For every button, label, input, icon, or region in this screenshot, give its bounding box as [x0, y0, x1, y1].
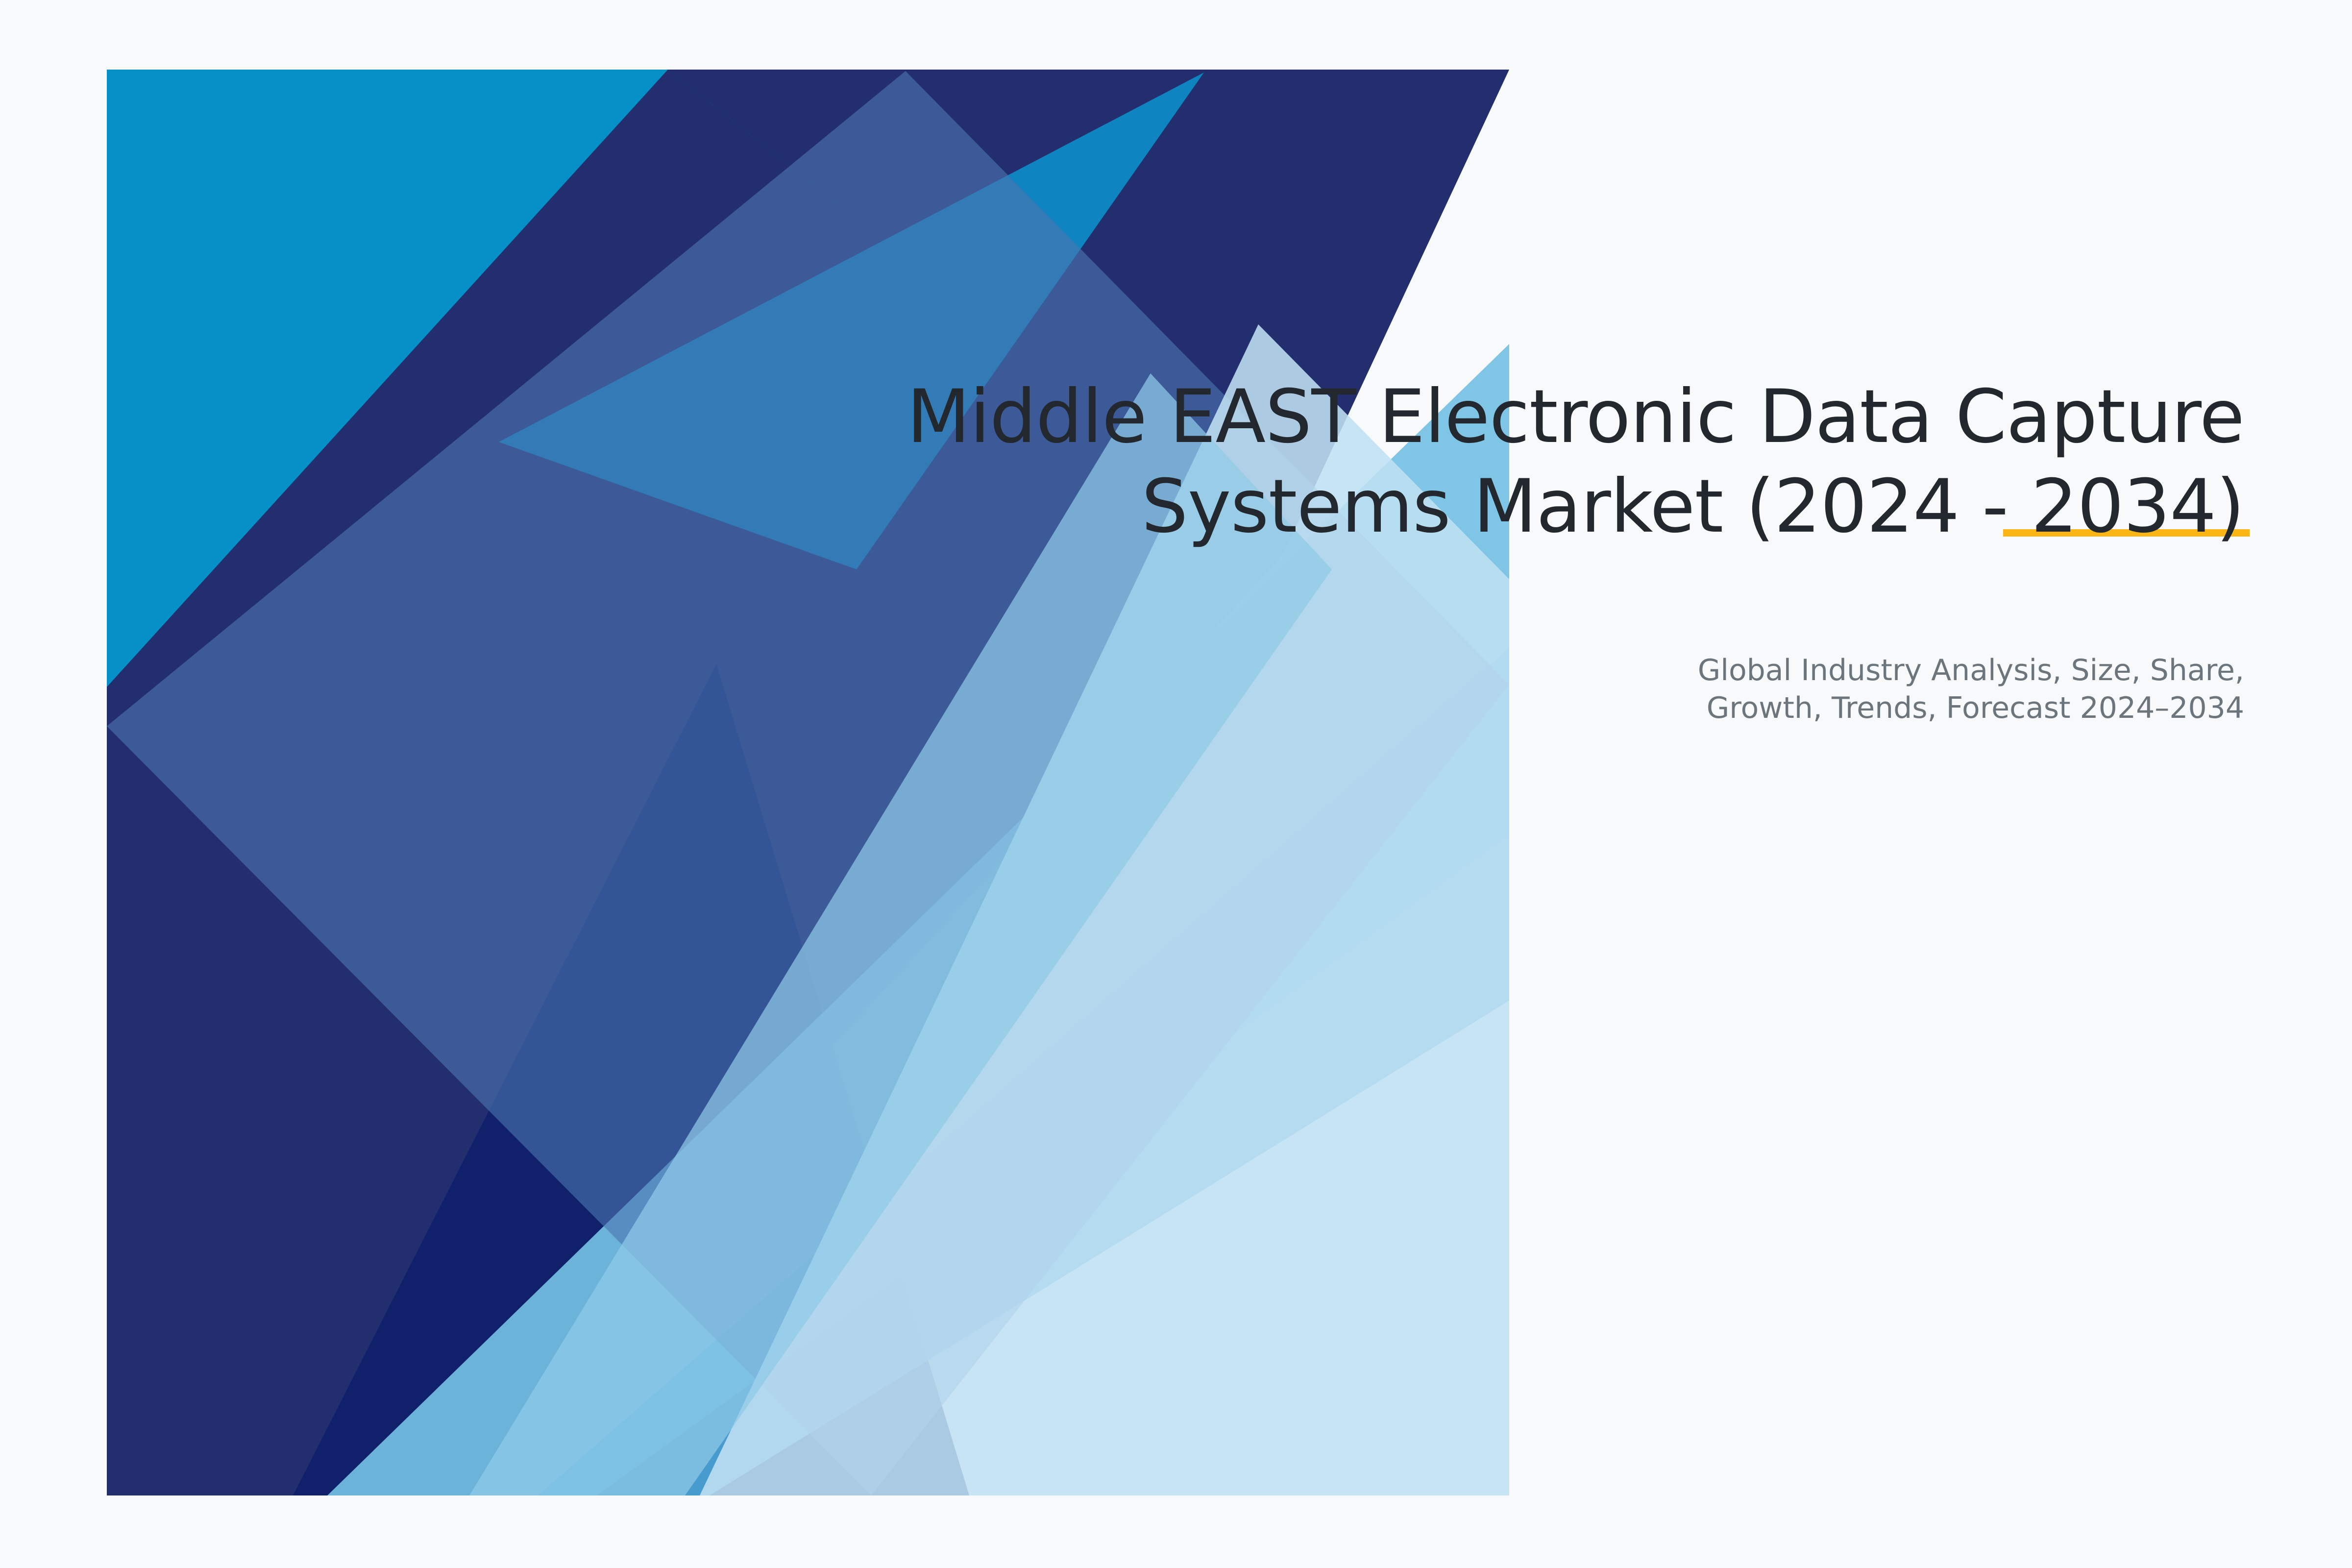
- abstract-geometric-graphic: [107, 70, 1509, 1495]
- page-subtitle-line-1: Global Industry Analysis, Size, Share,: [1698, 653, 2244, 687]
- page-subtitle: Global Industry Analysis, Size, Share, G…: [1264, 652, 2244, 727]
- page-title: Middle EAST Electronic Data Capture Syst…: [686, 372, 2244, 552]
- page-title-line-2: Systems Market (2024 - 2034): [1142, 464, 2245, 549]
- report-cover: Middle EAST Electronic Data Capture Syst…: [0, 0, 2352, 1568]
- page-title-line-1: Middle EAST Electronic Data Capture: [907, 374, 2244, 460]
- cover-artwork: [107, 70, 1509, 1495]
- cover-text-block: Middle EAST Electronic Data Capture Syst…: [686, 372, 2244, 552]
- page-subtitle-line-2: Growth, Trends, Forecast 2024–2034: [1707, 691, 2244, 725]
